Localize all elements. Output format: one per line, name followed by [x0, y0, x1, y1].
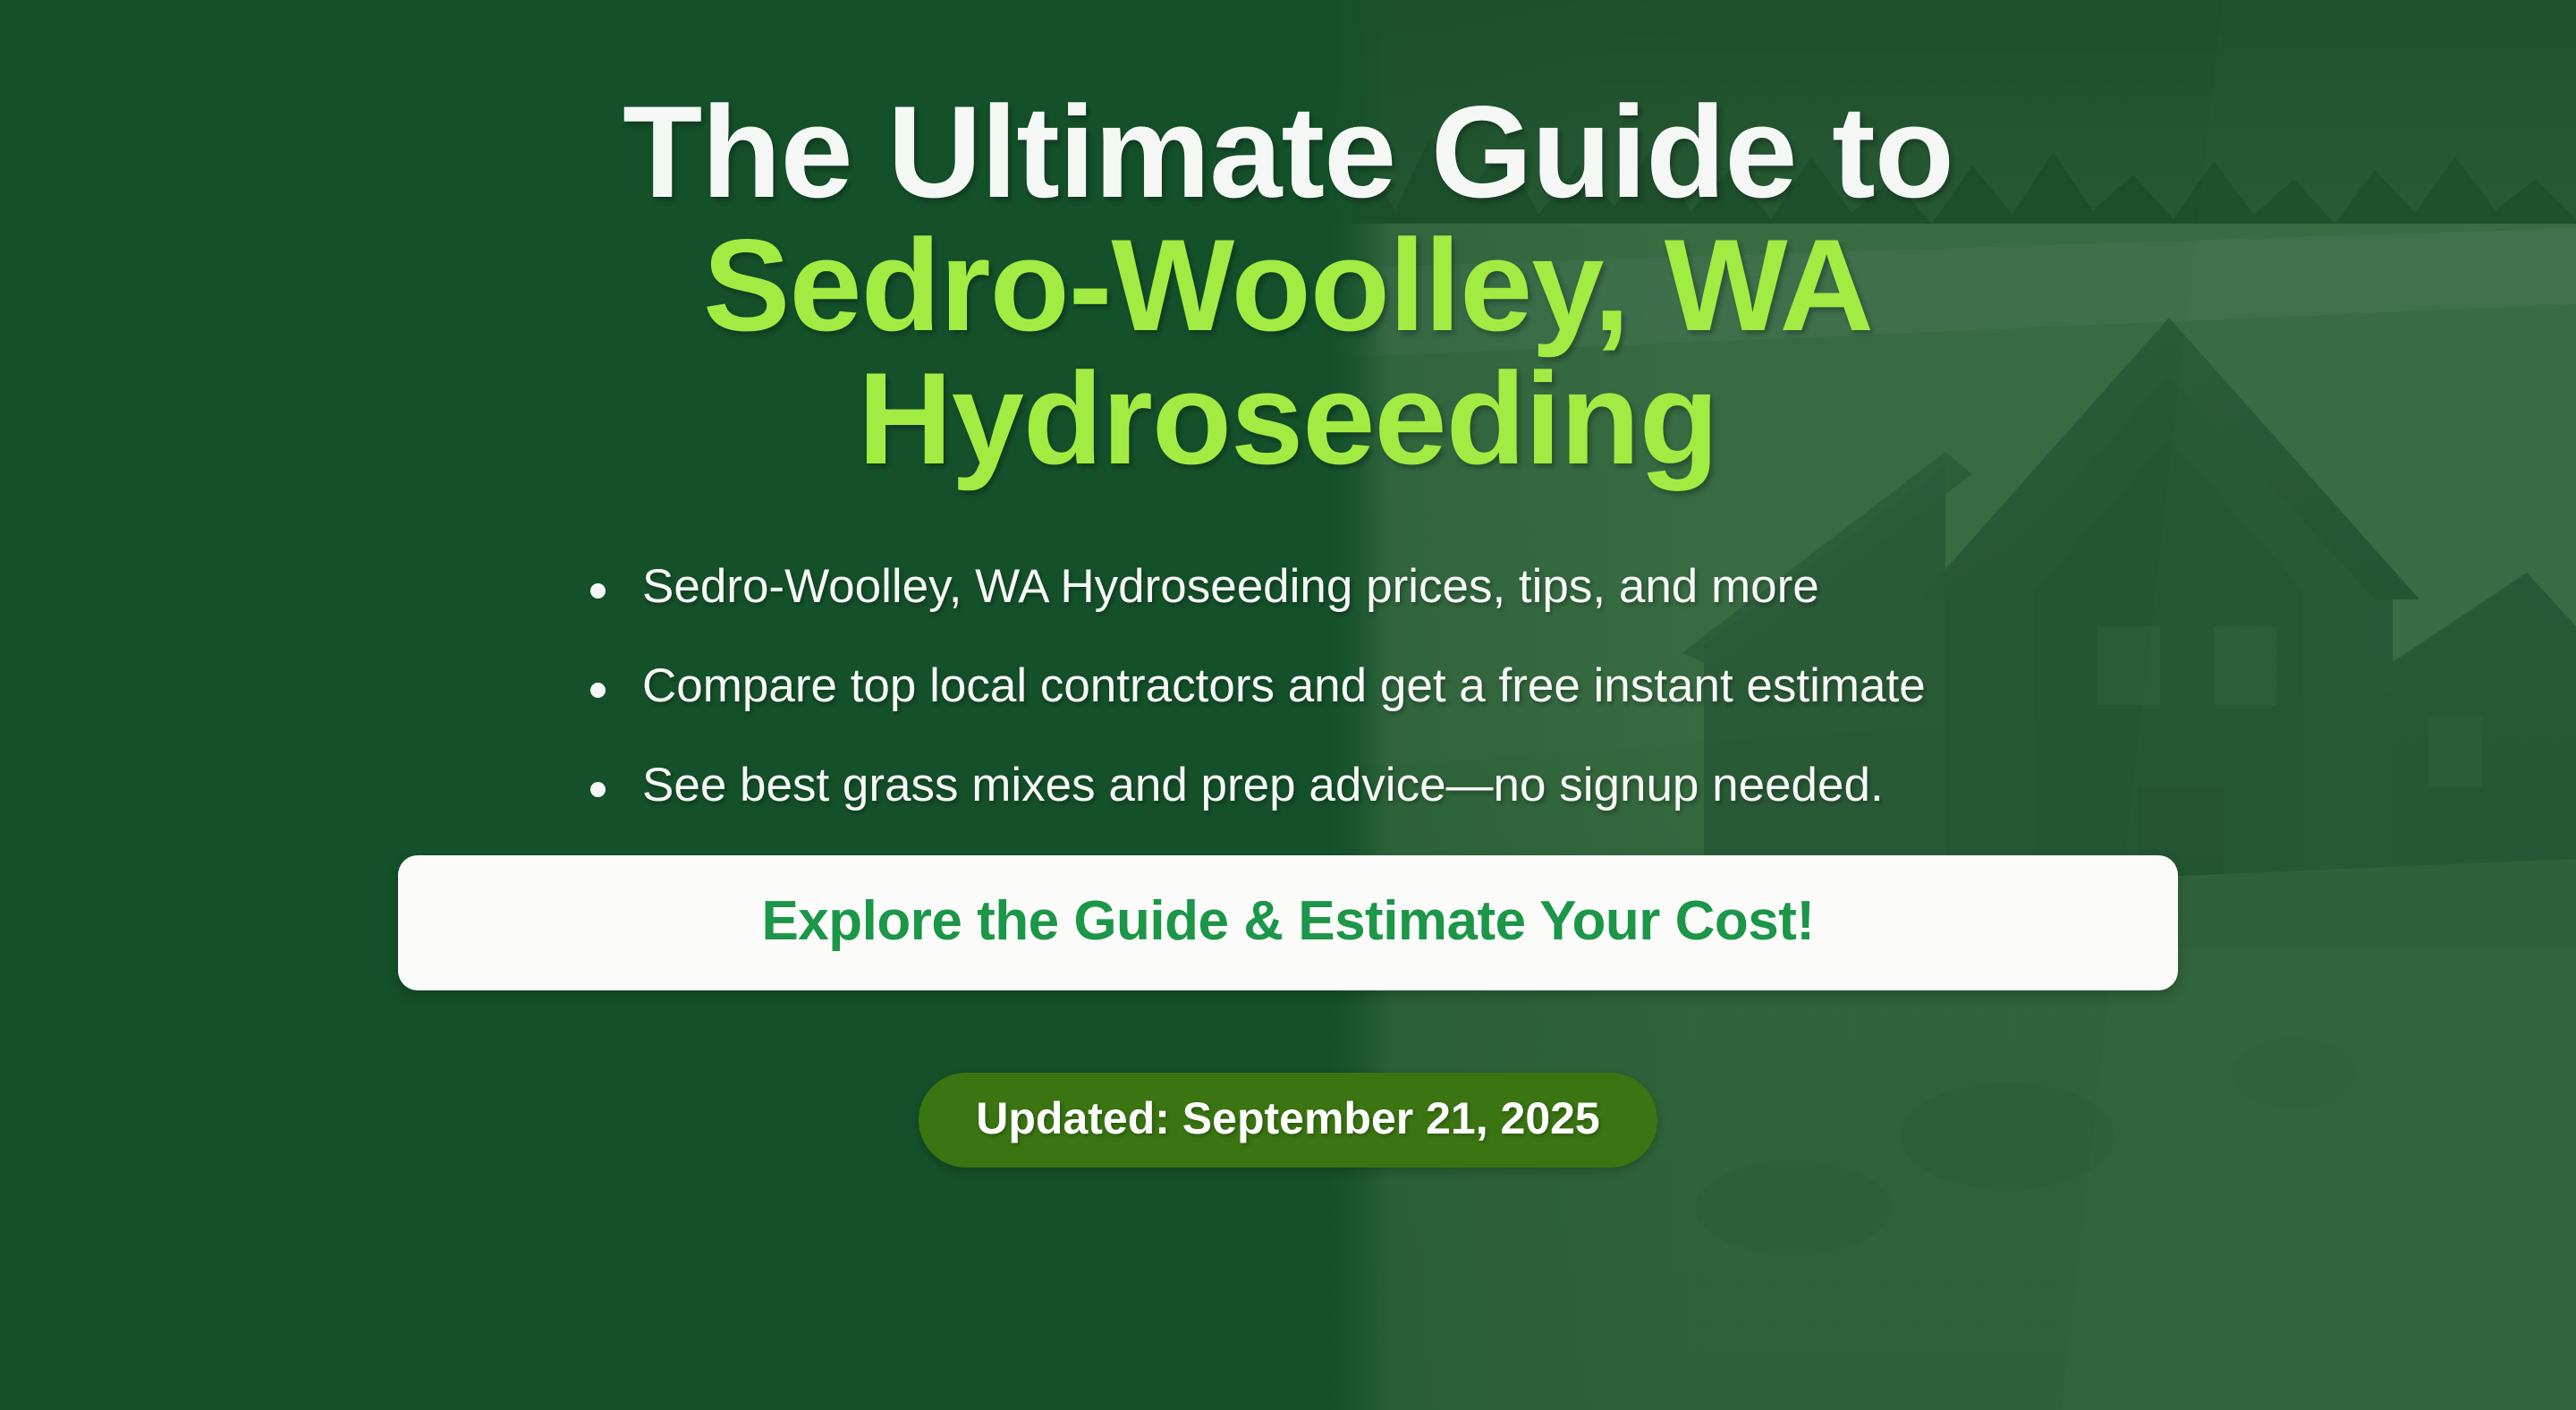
- benefits-list: Sedro-Woolley, WA Hydroseeding prices, t…: [0, 561, 2576, 860]
- headline-line-3: Hydroseeding: [107, 352, 2469, 486]
- list-item: Compare top local contractors and get a …: [590, 660, 2576, 760]
- cta-container: Explore the Guide & Estimate Your Cost!: [0, 855, 2576, 990]
- hero-banner: The Ultimate Guide to Sedro-Woolley, WA …: [0, 0, 2576, 1410]
- badge-container: Updated: September 21, 2025: [0, 1073, 2576, 1168]
- hero-content: The Ultimate Guide to Sedro-Woolley, WA …: [0, 0, 2576, 1410]
- list-item: See best grass mixes and prep advice—no …: [590, 760, 2576, 859]
- list-item: Sedro-Woolley, WA Hydroseeding prices, t…: [590, 561, 2576, 660]
- page-title: The Ultimate Guide to Sedro-Woolley, WA …: [0, 86, 2576, 486]
- headline-line-2: Sedro-Woolley, WA: [107, 219, 2469, 352]
- updated-date-badge: Updated: September 21, 2025: [919, 1073, 1657, 1168]
- headline-line-1: The Ultimate Guide to: [623, 79, 1953, 225]
- explore-guide-button[interactable]: Explore the Guide & Estimate Your Cost!: [398, 855, 2178, 990]
